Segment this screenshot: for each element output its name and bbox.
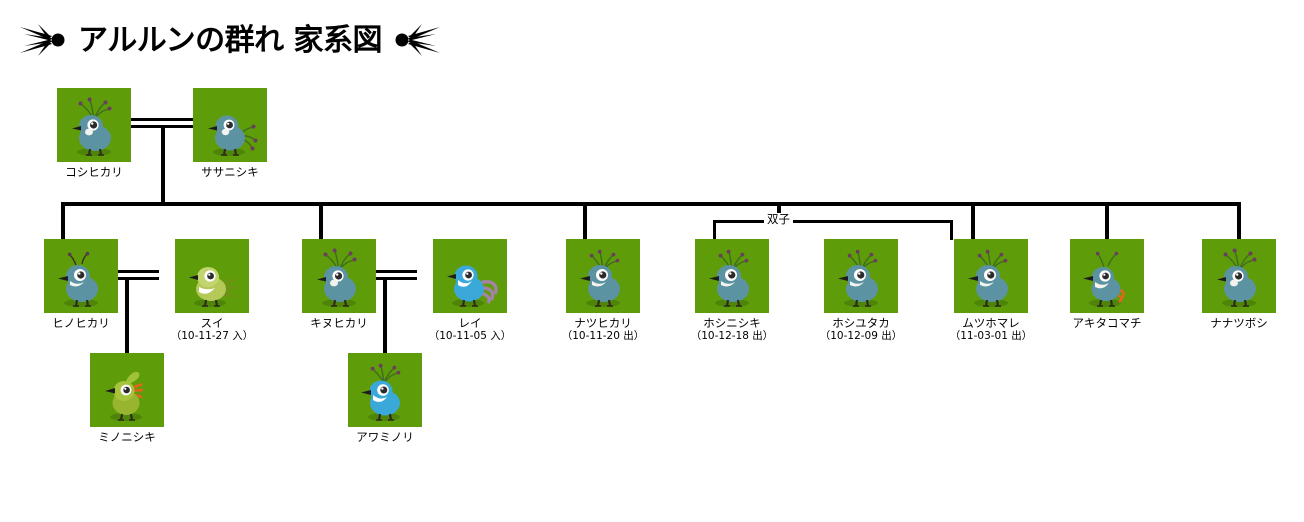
person-date: （10-11-27 入） (171, 330, 254, 343)
drop-line-nanatsuboshi (1237, 202, 1241, 240)
person-node-sasanishiki[interactable]: ササニシキ (193, 88, 267, 179)
person-name: ホシニシキ (703, 316, 761, 330)
person-node-awaminori[interactable]: アワミノリ (348, 353, 422, 444)
title-text: アルルンの群れ 家系図 (78, 26, 382, 59)
person-node-rei[interactable]: レイ （10-11-05 入） (415, 239, 525, 343)
person-node-nanatsuboshi[interactable]: ナナツボシ (1184, 239, 1294, 330)
portrait-sui (175, 239, 249, 313)
person-node-hoshinishiki[interactable]: ホシニシキ （10-12-18 出） (677, 239, 787, 343)
portrait-hoshinishiki (695, 239, 769, 313)
drop-line-kinuhikari (319, 202, 323, 240)
person-date: （11-03-01 出） (950, 330, 1033, 343)
portrait-hinohikari (44, 239, 118, 313)
drop-line-natsuhikari (583, 202, 587, 240)
twin-label: 双子 (764, 213, 793, 226)
person-node-akitakomachi[interactable]: アキタコマチ (1052, 239, 1162, 330)
descent-line-gen1 (161, 128, 165, 205)
person-node-minonishiki[interactable]: ミノニシキ (90, 353, 164, 444)
drop-line-akitakomachi (1105, 202, 1109, 240)
portrait-awaminori (348, 353, 422, 427)
person-node-hoshiyutaka[interactable]: ホシユタカ （10-12-09 出） (806, 239, 916, 343)
person-node-sui[interactable]: スイ （10-11-27 入） (157, 239, 267, 343)
person-name: アワミノリ (356, 430, 414, 444)
person-name: ヒノヒカリ (52, 316, 110, 330)
right-arrow-burst-icon (386, 23, 442, 62)
twin-bracket-horizontal (713, 220, 953, 223)
portrait-minonishiki (90, 353, 164, 427)
twin-bracket-right-drop (950, 220, 953, 240)
portrait-hoshiyutaka (824, 239, 898, 313)
person-name: ミノニシキ (98, 430, 156, 444)
person-node-hinohikari[interactable]: ヒノヒカリ (26, 239, 136, 330)
person-node-mutsuhomare[interactable]: ムツホマレ （11-03-01 出） (936, 239, 1046, 343)
person-date: （10-11-05 入） (429, 330, 512, 343)
person-name: ムツホマレ (962, 316, 1020, 330)
marriage-line-gen1-upper (131, 118, 195, 121)
sibling-bar-gen2 (61, 202, 1241, 206)
page-title: アルルンの群れ 家系図 (18, 16, 442, 68)
person-node-kinuhikari[interactable]: キヌヒカリ (284, 239, 394, 330)
person-node-koshihikari[interactable]: コシヒカリ (57, 88, 131, 179)
drop-line-mutsuhomare (971, 202, 975, 240)
person-date: （10-12-18 出） (691, 330, 774, 343)
twin-bracket-left-drop (713, 220, 716, 240)
portrait-sasanishiki (193, 88, 267, 162)
person-name: ナツヒカリ (574, 316, 632, 330)
person-name: ホシユタカ (832, 316, 890, 330)
person-node-natsuhikari[interactable]: ナツヒカリ （10-11-20 出） (548, 239, 658, 343)
person-name: アキタコマチ (1073, 316, 1142, 330)
drop-line-hinohikari (61, 202, 65, 240)
portrait-koshihikari (57, 88, 131, 162)
person-name: ナナツボシ (1210, 316, 1268, 330)
person-name: キヌヒカリ (310, 316, 368, 330)
portrait-rei (433, 239, 507, 313)
person-name: レイ (459, 316, 482, 330)
person-name: スイ (201, 316, 224, 330)
portrait-natsuhikari (566, 239, 640, 313)
person-name: コシヒカリ (65, 165, 123, 179)
person-date: （10-11-20 出） (562, 330, 645, 343)
person-name: ササニシキ (201, 165, 259, 179)
portrait-akitakomachi (1070, 239, 1144, 313)
portrait-nanatsuboshi (1202, 239, 1276, 313)
left-arrow-burst-icon (18, 23, 74, 62)
portrait-mutsuhomare (954, 239, 1028, 313)
person-date: （10-12-09 出） (820, 330, 903, 343)
family-tree-canvas: アルルンの群れ 家系図 (0, 0, 1304, 522)
portrait-kinuhikari (302, 239, 376, 313)
